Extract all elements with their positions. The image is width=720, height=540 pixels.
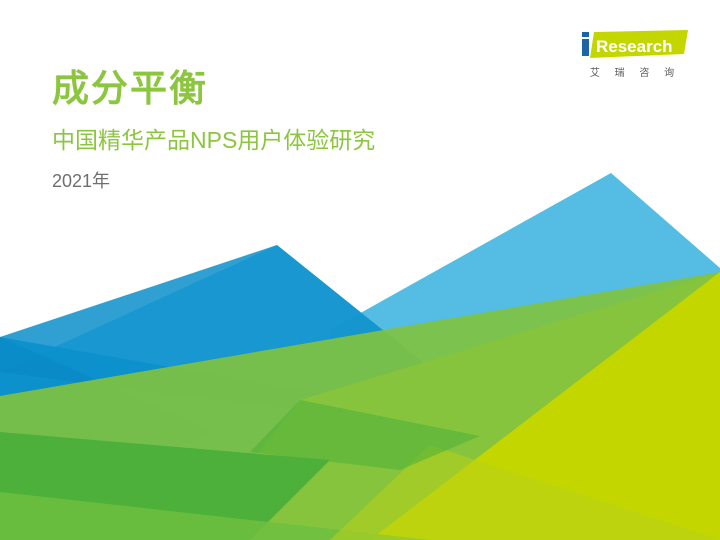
cover-text-block: 成分平衡 中国精华产品NPS用户体验研究 2021年	[52, 68, 375, 193]
logo-subtitle: 艾 瑞 咨 询	[572, 64, 692, 79]
logo-wordmark-text: Research	[596, 37, 673, 56]
page-subtitle: 中国精华产品NPS用户体验研究	[52, 127, 375, 155]
report-date: 2021年	[52, 171, 375, 193]
iresearch-logo-mark: Research	[572, 30, 688, 60]
logo-shape-icon: Research	[572, 30, 688, 60]
report-cover-slide: 成分平衡 中国精华产品NPS用户体验研究 2021年 Research 艾 瑞 …	[0, 0, 720, 540]
page-title: 成分平衡	[52, 68, 375, 111]
iresearch-logo: Research 艾 瑞 咨 询	[572, 30, 692, 79]
